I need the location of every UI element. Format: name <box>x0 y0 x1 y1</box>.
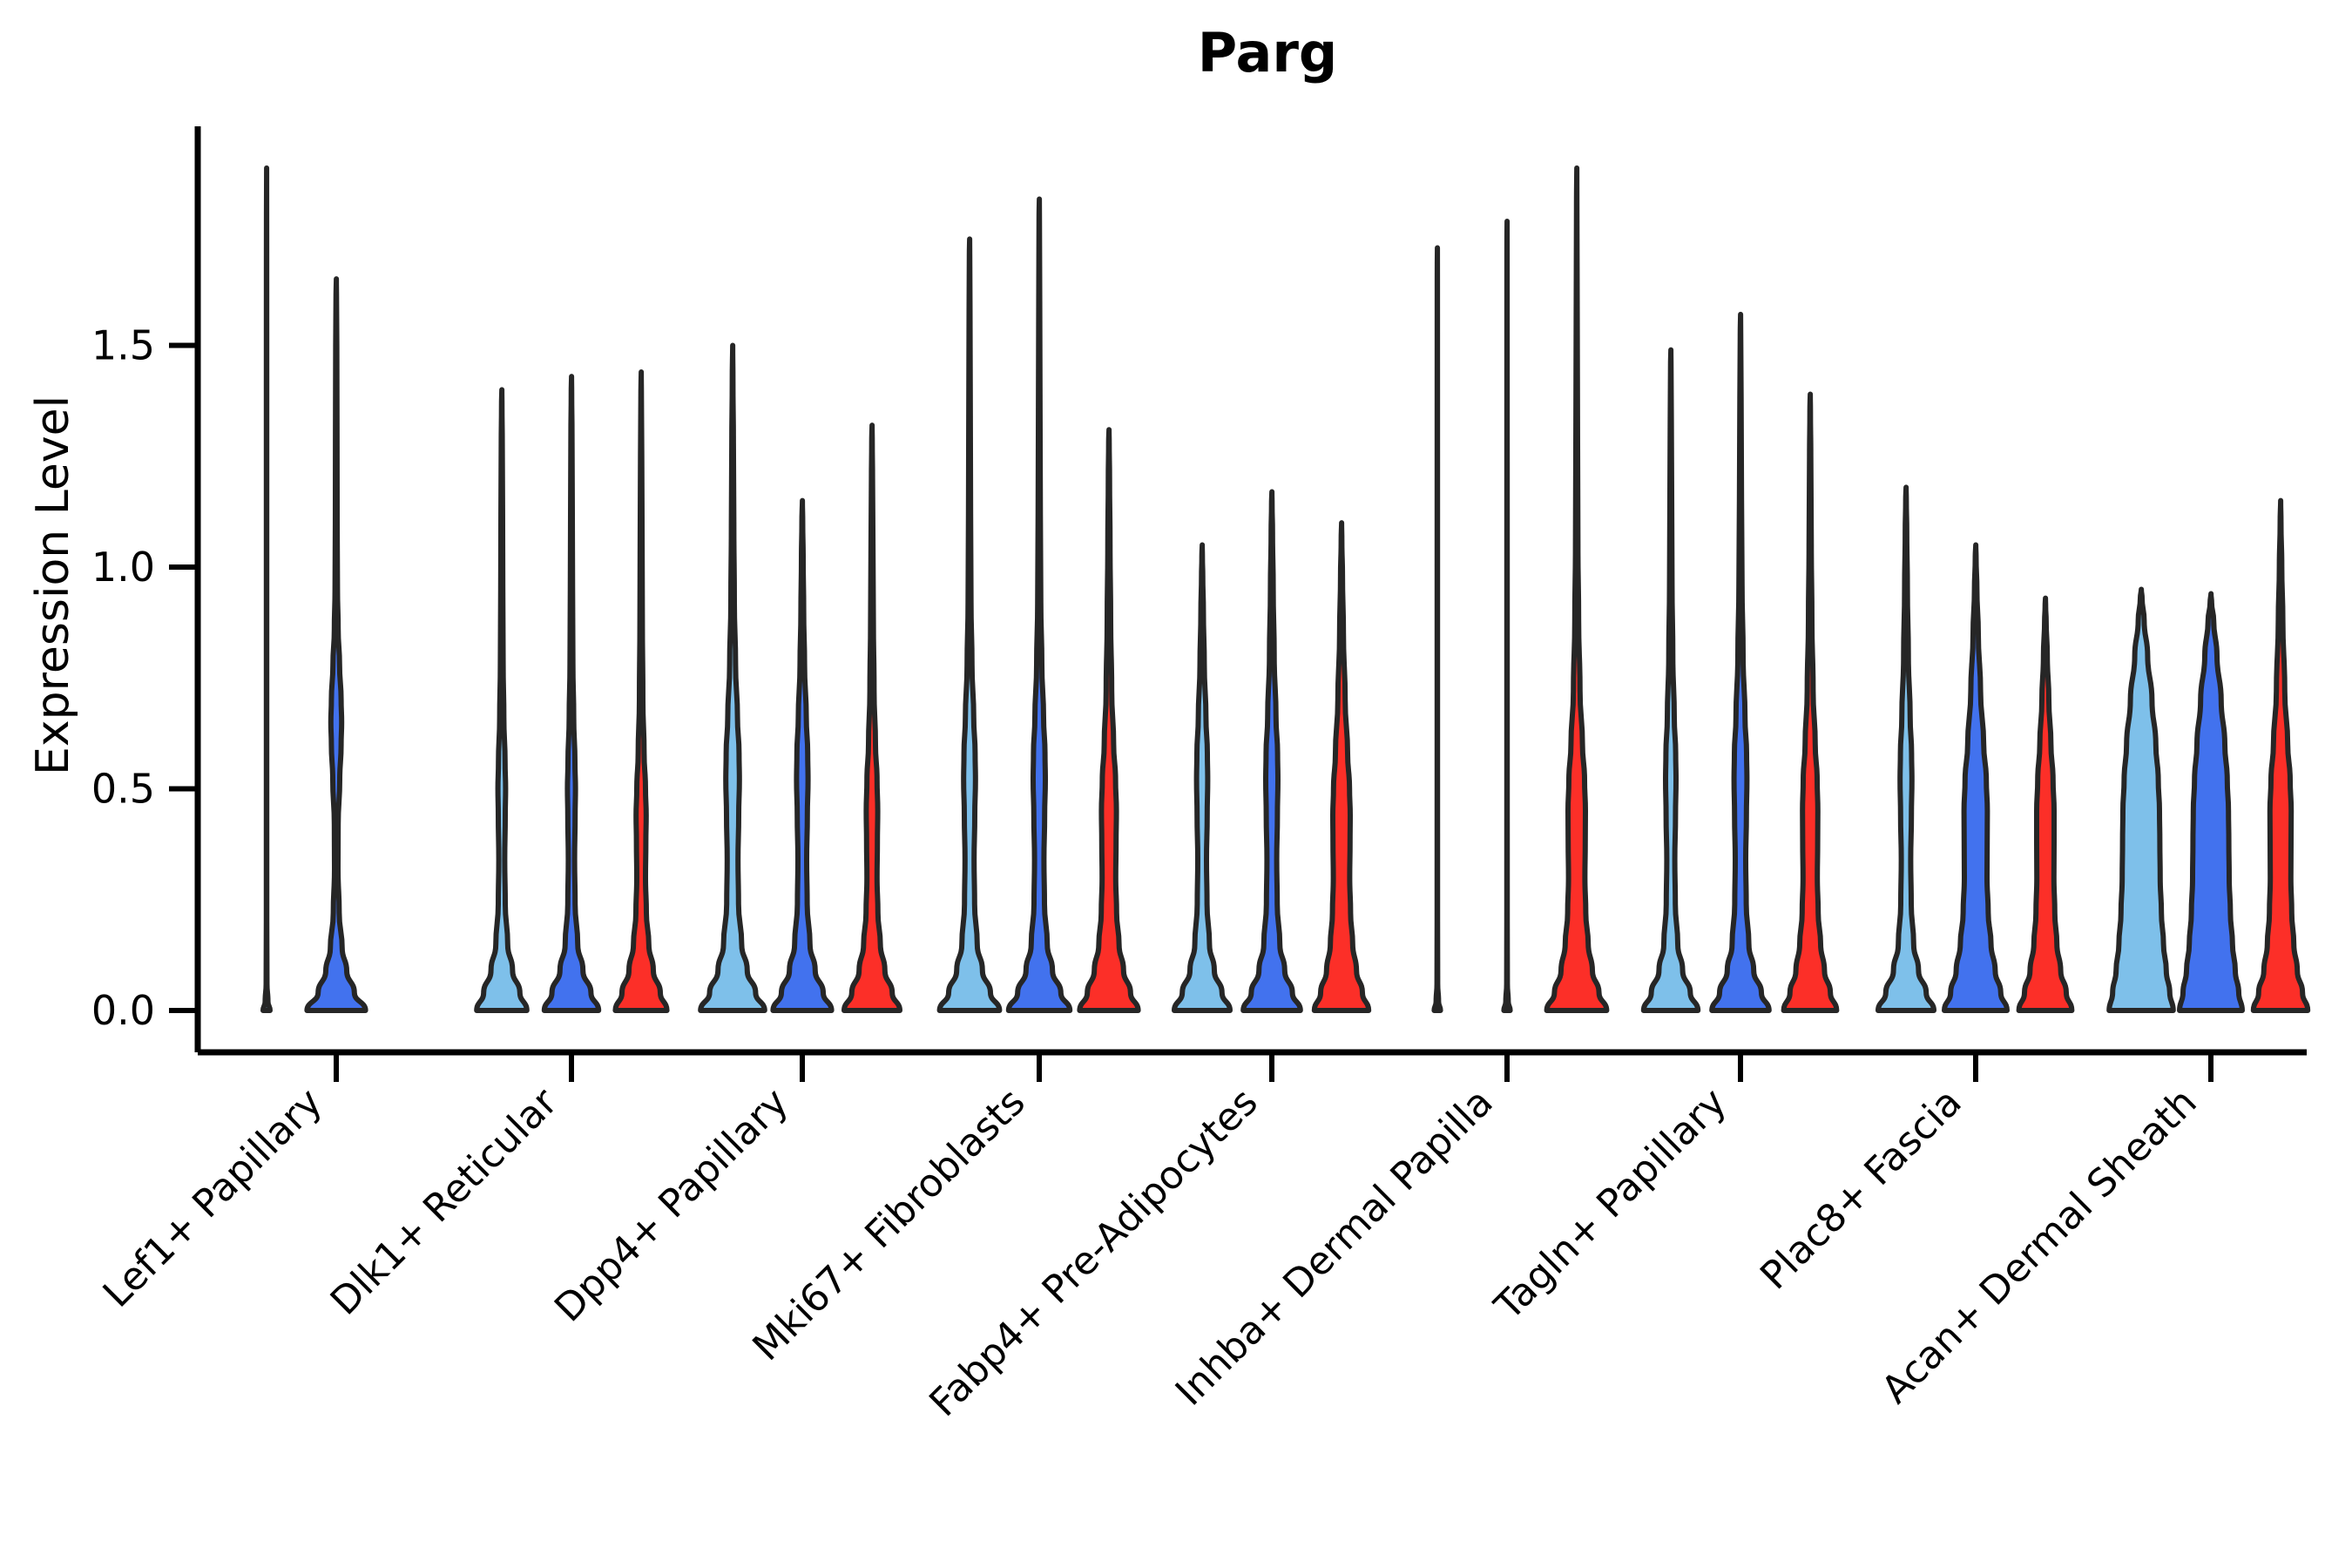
chart-title: Parg <box>1198 21 1338 84</box>
violin-shape[interactable] <box>1434 248 1440 1010</box>
y-tick-label: 1.0 <box>91 544 155 591</box>
violin-plot-figure: Parg Expression Level 0.00.51.01.5 Lef1+… <box>0 0 2352 1568</box>
violin-shape[interactable] <box>263 168 270 1010</box>
y-tick-label: 0.5 <box>91 766 155 813</box>
y-tick-label: 0.0 <box>91 987 155 1034</box>
figure-background <box>0 0 2352 1568</box>
y-axis-label: Expression Level <box>27 395 79 775</box>
y-tick-label: 1.5 <box>91 322 155 369</box>
violin-shape[interactable] <box>1504 221 1510 1010</box>
plot-canvas: Parg Expression Level 0.00.51.01.5 Lef1+… <box>0 0 2352 1568</box>
